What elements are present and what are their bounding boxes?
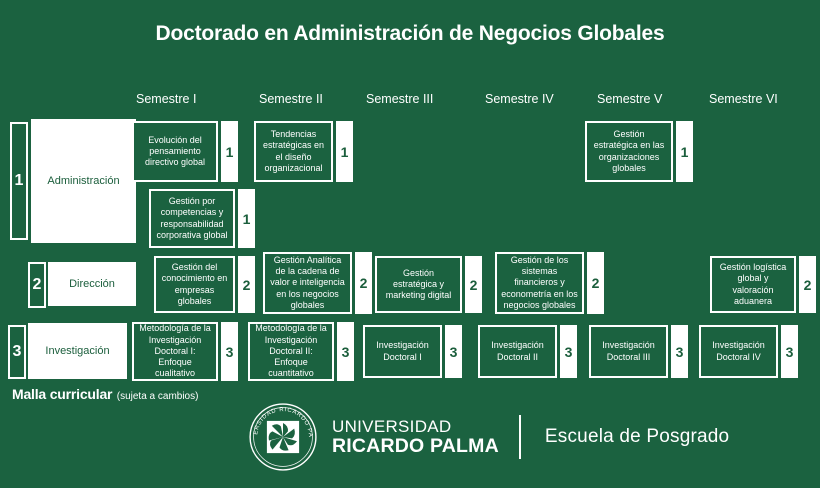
university-name-line1: UNIVERSIDAD	[332, 418, 499, 436]
university-name-line2: RICARDO PALMA	[332, 436, 499, 456]
malla-curricular-caption: Malla curricular (sujeta a cambios)	[12, 386, 198, 404]
course-card[interactable]: Evolución del pensamiento directivo glob…	[132, 121, 218, 182]
course-credit-badge: 2	[355, 252, 372, 314]
course-credit-badge: 2	[799, 256, 816, 313]
category-number-badge-3: 3	[8, 325, 26, 379]
course-card[interactable]: Investigación Doctoral III	[589, 325, 668, 378]
course-card[interactable]: Gestión de los sistemas financieros y ec…	[495, 252, 584, 314]
category-label-3: Investigación	[28, 323, 127, 379]
course-credit-badge: 2	[238, 256, 255, 313]
semester-header-2: Semestre II	[259, 92, 323, 106]
course-credit-badge: 2	[587, 252, 604, 314]
course-card[interactable]: Metodología de la Investigación Doctoral…	[248, 322, 334, 381]
category-label-2: Dirección	[48, 262, 136, 306]
malla-curricular-note: (sujeta a cambios)	[117, 391, 199, 402]
semester-header-1: Semestre I	[136, 92, 196, 106]
course-card[interactable]: Gestión Analítica de la cadena de valor …	[263, 252, 352, 314]
course-credit-badge: 2	[465, 256, 482, 313]
university-name: UNIVERSIDAD RICARDO PALMA	[332, 418, 499, 456]
course-credit-badge: 3	[560, 325, 577, 378]
course-credit-badge: 3	[445, 325, 462, 378]
course-credit-badge: 1	[336, 121, 353, 182]
course-card[interactable]: Investigación Doctoral II	[478, 325, 557, 378]
course-card[interactable]: Tendencias estratégicas en el diseño org…	[254, 121, 333, 182]
category-label-1: Administración	[31, 119, 136, 243]
school-name: Escuela de Posgrado	[545, 426, 729, 448]
semester-header-5: Semestre V	[597, 92, 662, 106]
course-card[interactable]: Investigación Doctoral I	[363, 325, 442, 378]
course-credit-badge: 1	[676, 121, 693, 182]
category-number-badge-2: 2	[28, 262, 46, 308]
course-card[interactable]: Gestión del conocimiento en empresas glo…	[154, 256, 235, 313]
course-credit-badge: 3	[221, 322, 238, 381]
category-number-badge-1: 1	[10, 122, 28, 240]
course-credit-badge: 3	[337, 322, 354, 381]
course-card[interactable]: Gestión estratégica y marketing digital	[375, 256, 462, 313]
page-title: Doctorado en Administración de Negocios …	[0, 22, 820, 46]
semester-header-6: Semestre VI	[709, 92, 778, 106]
course-credit-badge: 1	[238, 189, 255, 248]
brand-lockup: UNIVERSIDAD RICARDO PALMA UNIVERSIDAD RI…	[248, 402, 729, 472]
course-card[interactable]: Investigación Doctoral IV	[699, 325, 778, 378]
course-credit-badge: 3	[671, 325, 688, 378]
semester-header-3: Semestre III	[366, 92, 433, 106]
brand-divider	[519, 415, 521, 459]
course-credit-badge: 3	[781, 325, 798, 378]
semester-header-4: Semestre IV	[485, 92, 554, 106]
course-card[interactable]: Gestión estratégica en las organizacione…	[585, 121, 673, 182]
course-card[interactable]: Gestión logística global y valoración ad…	[710, 256, 796, 313]
curriculum-infographic: Doctorado en Administración de Negocios …	[0, 0, 820, 488]
university-seal-icon: UNIVERSIDAD RICARDO PALMA	[248, 402, 318, 472]
malla-curricular-label: Malla curricular	[12, 386, 112, 402]
course-credit-badge: 1	[221, 121, 238, 182]
course-card[interactable]: Metodología de la Investigación Doctoral…	[132, 322, 218, 381]
course-card[interactable]: Gestión por competencias y responsabilid…	[149, 189, 235, 248]
